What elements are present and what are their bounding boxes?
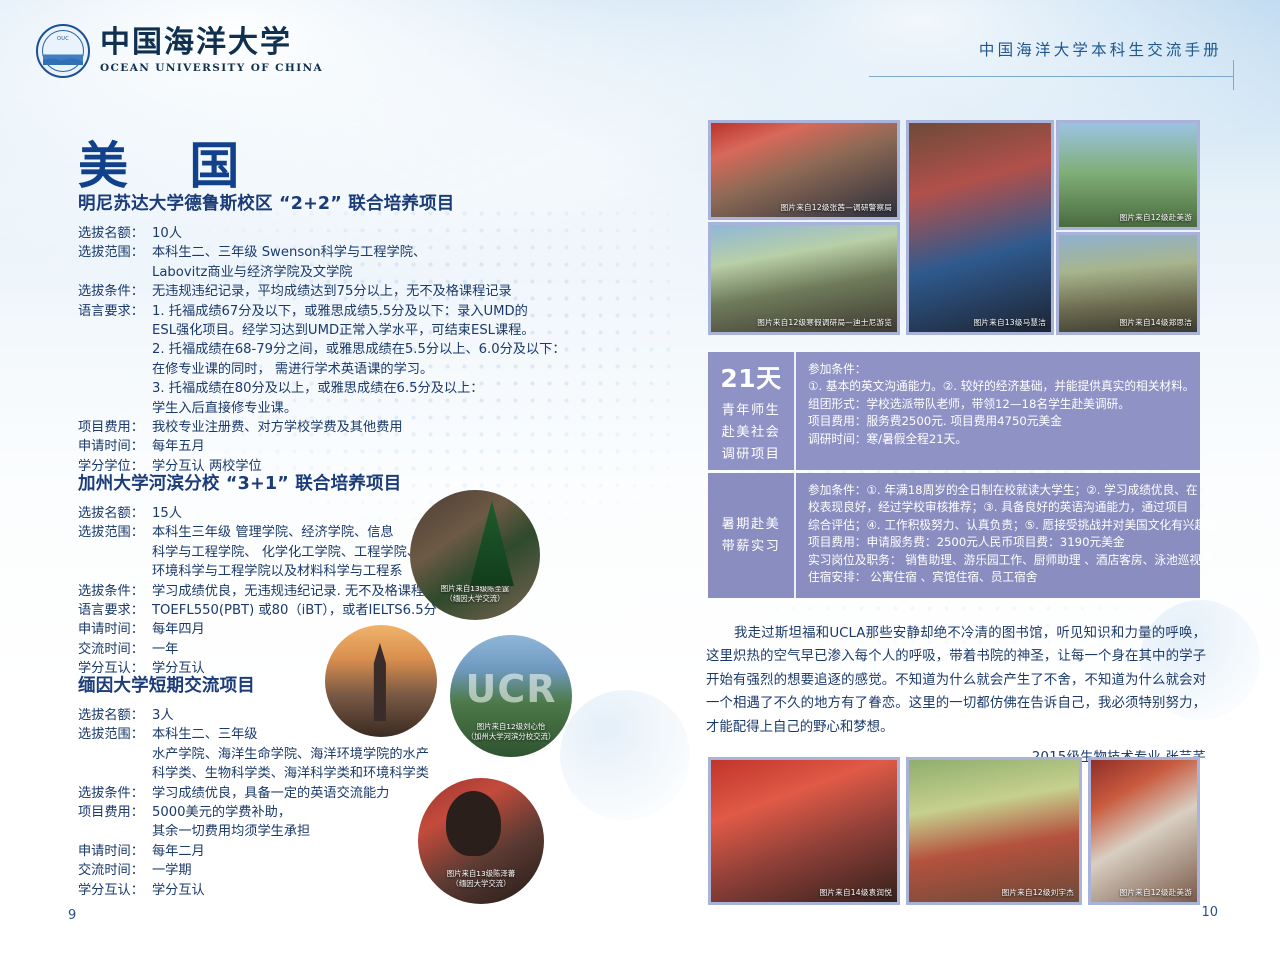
program-row: 在修专业课的同时， 需进行学术英语课的学习。 (78, 360, 598, 379)
info-box-label: 暑期赴美 带薪实习 (708, 473, 796, 598)
header-tick (1233, 60, 1234, 90)
program-row-label: 申请时间： (78, 437, 152, 456)
circle-photo-church (325, 625, 437, 737)
page-title: 美 国 (78, 126, 261, 198)
program-row: Labovitz商业与经济学院及文学院 (78, 263, 598, 282)
info-line: 校表现良好，经过学校审核推荐；③. 具备良好的英语沟通能力，通过项目 (808, 499, 1230, 516)
student-testimonial: 我走过斯坦福和UCLA那些安静却绝不冷清的图书馆，听见知识和力量的呼唤，这里炽热… (706, 622, 1206, 765)
program-row: 水产学院、海洋生命学院、海洋环境学院的水产 (78, 745, 478, 764)
program-row: 项目费用：我校专业注册费、对方学校学费及其他费用 (78, 418, 598, 437)
photo-caption: 图片来自13级陈圣霆 （缅因大学交流） (410, 584, 540, 604)
info-box-subline: 暑期赴美 (722, 515, 781, 534)
program-row-label: 项目费用： (78, 418, 152, 437)
program-row-label: 选拔范围： (78, 523, 152, 542)
program-row-value: 每年四月 (152, 620, 478, 639)
photo-red-uniform-group: 图片来自14级袁润悦 (708, 757, 900, 905)
program-row-label: 项目费用： (78, 803, 152, 822)
info-box-summer-internship: 暑期赴美 带薪实习 参加条件：①. 年满18周岁的全日制在校就读大学生；②. 学… (708, 473, 1200, 598)
logo-chinese-name: 中国海洋大学 (100, 28, 323, 58)
info-box-subline: 青年师生 (722, 401, 781, 420)
photo-caption: 图片来自12级赴美游 (1120, 888, 1192, 898)
booklet-title: 中国海洋大学本科生交流手册 (979, 38, 1222, 60)
photo-caption: 图片来自12级赴美游 (1120, 213, 1192, 223)
program-row-value: 科学类、生物科学类、海洋科学类和环境科学类 (152, 764, 478, 783)
info-box-headline: 21天 (720, 359, 781, 395)
program-row-label: 语言要求： (78, 601, 152, 620)
program-row: 选拔名额：15人 (78, 504, 478, 523)
circle-photo-ucr-campus: UCR 图片来自12级刘心怡 （加州大学河滨分校交流） (450, 635, 572, 757)
program-row: 3. 托福成绩在80分及以上，或雅思成绩在6.5分及以上： (78, 379, 598, 398)
logo-english-name: OCEAN UNIVERSITY OF CHINA (100, 63, 323, 74)
info-line: 参加条件：①. 年满18周岁的全日制在校就读大学生；②. 学习成绩优良、在 (808, 482, 1230, 499)
circle-photo-maine-christmas: 图片来自13级陈圣霆 （缅因大学交流） (410, 490, 540, 620)
program-row: 2. 托福成绩在68-79分之间，或雅思成绩在5.5分以上、6.0分及以下： (78, 340, 598, 359)
program-row-label: 选拔条件： (78, 784, 152, 803)
photo-caption: 图片来自12级张茜—调研警察局 (781, 203, 892, 213)
seal-wave-icon (43, 46, 83, 65)
photo-disneyland: 图片来自12级寒假调研局—迪士尼游览 (708, 222, 900, 335)
photo-group-stairs: 图片来自14级郑思洁 (1056, 232, 1200, 335)
info-line: 实习岗位及职务： 销售助理、游乐园工作、厨师助理 、酒店客房、泳池巡视员 (808, 552, 1230, 569)
testimonial-body: 我走过斯坦福和UCLA那些安静却绝不冷清的图书馆，听见知识和力量的呼唤，这里炽热… (706, 622, 1206, 739)
program-row-label: 交流时间： (78, 640, 152, 659)
program-row-value: 1. 托福成绩67分及以下，或雅思成绩5.5分及以下：录入UMD的 (152, 302, 598, 321)
page-number-left: 9 (68, 908, 76, 923)
program-row-label: 选拔名额： (78, 706, 152, 725)
info-box-21day-program: 21天 青年师生 赴美社会 调研项目 参加条件： ①. 基本的英文沟通能力。②.… (708, 352, 1200, 470)
info-line: 综合评估；④. 工作积极努力、认真负责；⑤. 愿接受挑战并对美国文化有兴趣者。 (808, 517, 1230, 534)
university-logo: OUC 中国海洋大学 OCEAN UNIVERSITY OF CHINA (36, 24, 323, 78)
program-row-label: 语言要求： (78, 302, 152, 321)
program-row: 选拔名额：10人 (78, 224, 598, 243)
program-row-value: 在修专业课的同时， 需进行学术英语课的学习。 (152, 360, 598, 379)
program-row-label: 申请时间： (78, 842, 152, 861)
program-row: 科学类、生物科学类、海洋科学类和环境科学类 (78, 764, 478, 783)
program-row: 申请时间：每年四月 (78, 620, 478, 639)
program-row-value: 10人 (152, 224, 598, 243)
program-row: 学生入后直接修专业课。 (78, 399, 598, 418)
program-row-value: 无违规违纪记录，平均成绩达到75分以上，无不及格课程记录 (152, 282, 598, 301)
program-row-value: 2. 托福成绩在68-79分之间，或雅思成绩在5.5分以上、6.0分及以下： (152, 340, 598, 359)
photo-group-jump: 图片来自12级赴美游 (1056, 120, 1200, 230)
program-row-label: 学分互认： (78, 881, 152, 900)
program-row-value: 学生入后直接修专业课。 (152, 399, 598, 418)
info-line: 住宿安排： 公寓住宿 、宾馆住宿、员工宿舍 (808, 569, 1230, 586)
program-row-label: 选拔名额： (78, 224, 152, 243)
program-title: 加州大学河滨分校 “3+1” 联合培养项目 (78, 470, 478, 495)
program-row: 选拔条件：学习成绩优良，具备一定的英语交流能力 (78, 784, 478, 803)
program-row-value: 我校专业注册费、对方学校学费及其他费用 (152, 418, 598, 437)
photo-caption: 图片来自13级马慧洁 (974, 318, 1046, 328)
program-row-label: 申请时间： (78, 620, 152, 639)
photo-caption: 图片来自14级郑思洁 (1120, 318, 1192, 328)
program-row: 选拔范围：本科生二、三年级 (78, 725, 478, 744)
info-box-subline: 带薪实习 (722, 537, 781, 556)
program-row-value: 水产学院、海洋生命学院、海洋环境学院的水产 (152, 745, 478, 764)
photo-mural: 图片来自12级赴美游 (1088, 757, 1200, 905)
program-section-umd: 明尼苏达大学德鲁斯校区 “2+2” 联合培养项目 选拔名额：10人选拔范围：本科… (78, 190, 598, 476)
photo-police-station: 图片来自12级张茜—调研警察局 (708, 120, 900, 220)
photo-caption: 图片来自12级寒假调研局—迪士尼游览 (757, 318, 892, 328)
info-box-subline: 调研项目 (722, 445, 781, 464)
photo-restaurant: 图片来自13级马慧洁 (906, 120, 1054, 335)
photo-lifeguard: 图片来自12级刘宇杰 (906, 757, 1082, 905)
decorative-blob-1 (560, 690, 690, 820)
program-row-value: Labovitz商业与经济学院及文学院 (152, 263, 598, 282)
info-line: 项目费用：申请服务费：2500元人民币项目费：3190元美金 (808, 534, 1230, 551)
page-number-right: 10 (1201, 905, 1218, 920)
info-line: 组团形式：学校选派带队老师，带领12—18名学生赴美调研。 (808, 396, 1194, 413)
program-row: 申请时间：每年五月 (78, 437, 598, 456)
info-line: 项目费用：服务费2500元. 项目费用4750元美金 (808, 413, 1194, 430)
seal-inner-text: OUC (38, 36, 88, 42)
program-row: 语言要求：1. 托福成绩67分及以下，或雅思成绩5.5分及以下：录入UMD的 (78, 302, 598, 321)
program-rows: 选拔名额：10人选拔范围：本科生二、三年级 Swenson科学与工程学院、 La… (78, 224, 598, 476)
program-row-value: 3. 托福成绩在80分及以上，或雅思成绩在6.5分及以上： (152, 379, 598, 398)
program-row-label: 交流时间： (78, 861, 152, 880)
info-line: ①. 基本的英文沟通能力。②. 较好的经济基础，并能提供真实的相关材料。 (808, 378, 1194, 395)
info-box-label: 21天 青年师生 赴美社会 调研项目 (708, 352, 796, 470)
photo-caption: 图片来自12级刘宇杰 (1002, 888, 1074, 898)
ucr-sign-overlay: UCR (450, 667, 572, 711)
header-rule (869, 76, 1234, 77)
program-row-label: 选拔范围： (78, 725, 152, 744)
info-line: 参加条件： (808, 361, 1194, 378)
program-row-value: ESL强化项目。经学习达到UMD正常入学水平，可结束ESL课程。 (152, 321, 598, 340)
photo-caption: 图片来自13级陈泽蕃 （缅因大学交流） (418, 869, 544, 889)
info-box-body: 参加条件：①. 年满18周岁的全日制在校就读大学生；②. 学习成绩优良、在 校表… (796, 473, 1240, 598)
university-seal-icon: OUC (36, 24, 90, 78)
program-row: 项目费用：5000美元的学费补助， (78, 803, 478, 822)
program-row-value: 本科生二、三年级 Swenson科学与工程学院、 (152, 243, 598, 262)
program-row-label: 选拔条件： (78, 582, 152, 601)
info-line: 调研时间：寒/暑假全程21天。 (808, 431, 1194, 448)
info-box-subline: 赴美社会 (722, 423, 781, 442)
program-row-label: 选拔名额： (78, 504, 152, 523)
circle-photo-boat: 图片来自13级陈泽蕃 （缅因大学交流） (418, 778, 544, 904)
program-row: ESL强化项目。经学习达到UMD正常入学水平，可结束ESL课程。 (78, 321, 598, 340)
program-row-label: 选拔范围： (78, 243, 152, 262)
program-row-value: 学习成绩优良，具备一定的英语交流能力 (152, 784, 478, 803)
program-row-value: 每年五月 (152, 437, 598, 456)
info-box-body: 参加条件： ①. 基本的英文沟通能力。②. 较好的经济基础，并能提供真实的相关材… (796, 352, 1204, 470)
program-row: 选拔范围：本科生二、三年级 Swenson科学与工程学院、 (78, 243, 598, 262)
photo-caption: 图片来自14级袁润悦 (820, 888, 892, 898)
photo-caption: 图片来自12级刘心怡 （加州大学河滨分校交流） (450, 722, 572, 742)
program-row-value: 本科生二、三年级 (152, 725, 478, 744)
program-title: 明尼苏达大学德鲁斯校区 “2+2” 联合培养项目 (78, 190, 598, 215)
program-row-label: 选拔条件： (78, 282, 152, 301)
program-row: 选拔条件：无违规违纪记录，平均成绩达到75分以上，无不及格课程记录 (78, 282, 598, 301)
